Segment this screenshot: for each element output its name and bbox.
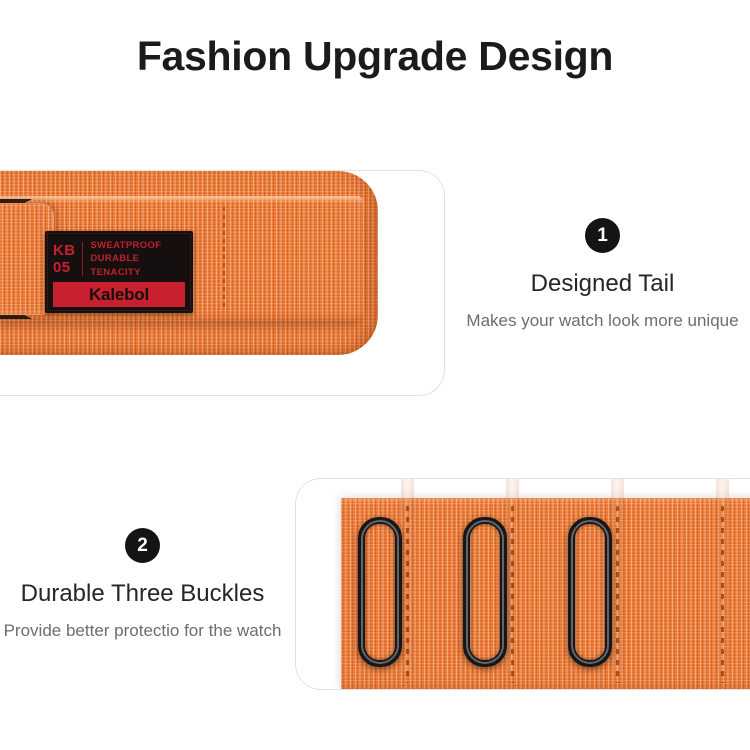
buckle-keeper [358,517,402,667]
strap-stitch-dots [616,506,619,683]
brand-plate: Kalebol [53,282,185,307]
feature-title-1: Designed Tail [455,269,750,299]
buckle-keeper [568,517,612,667]
strap-stitch-dots [511,506,514,683]
label-claim-durable: DURABLE [90,252,161,266]
infographic-page: Fashion Upgrade Design KB 05 SWEATPROOF … [0,0,750,750]
strap-stitch-line [223,207,225,311]
product-photo-designed-tail: KB 05 SWEATPROOF DURABLE TENACITY Kalebo… [0,170,445,396]
feature-description-1: Makes your watch look more unique [455,308,750,333]
label-claim-sweatproof: SWEATPROOF [90,239,161,253]
label-top-row: KB 05 SWEATPROOF DURABLE TENACITY [53,238,185,280]
feature-description-2: Provide better protectio for the watch [0,618,285,643]
feature-callout-designed-tail: 1 Designed Tail Makes your watch look mo… [455,218,750,333]
brand-name: Kalebol [89,285,149,304]
label-divider [82,242,83,276]
strap-stitch-dots [406,506,409,683]
label-code-block: KB 05 [53,242,75,276]
feature-callout-three-buckles: 2 Durable Three Buckles Provide better p… [0,528,285,643]
feature-number-badge-2: 2 [125,528,160,563]
label-claim-tenacity: TENACITY [90,266,161,280]
strap-stitch-dots [721,506,724,683]
buckle-keeper [463,517,507,667]
brand-label-patch: KB 05 SWEATPROOF DURABLE TENACITY Kalebo… [45,231,193,313]
page-title: Fashion Upgrade Design [0,30,750,82]
label-claims-block: SWEATPROOF DURABLE TENACITY [90,239,161,280]
label-code-line-1: KB [53,242,75,259]
feature-number-badge-1: 1 [585,218,620,253]
product-photo-three-buckles [295,478,750,690]
feature-title-2: Durable Three Buckles [0,579,285,609]
label-code-line-2: 05 [53,259,75,276]
